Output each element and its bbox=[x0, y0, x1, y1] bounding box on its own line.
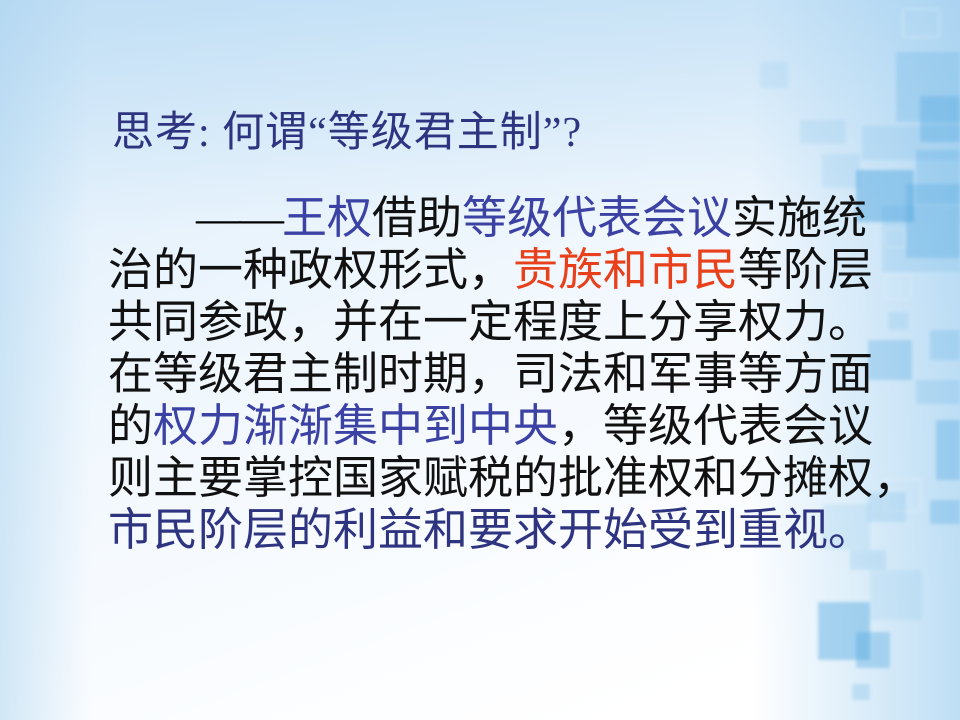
text-segment: 市民阶层的利益和要求开始受到重视。 bbox=[108, 505, 873, 555]
text-segment: 实施统 bbox=[732, 193, 867, 243]
text-segment: 的 bbox=[108, 401, 153, 451]
slide-content: 思考: 何谓“等级君主制”? ——王权借助等级代表会议实施统治的一种政权形式，贵… bbox=[0, 0, 960, 720]
text-segment: 贵族和市民 bbox=[513, 245, 738, 295]
text-segment: ，等级代表会议 bbox=[558, 401, 873, 451]
text-segment: 等阶层 bbox=[738, 245, 873, 295]
body-line: 治的一种政权形式，贵族和市民等阶层 bbox=[108, 244, 868, 296]
text-segment: 共同参政，并在一定程度上分享权力。 bbox=[108, 297, 873, 347]
body-line: ——王权借助等级代表会议实施统 bbox=[108, 192, 868, 244]
body-line: 在等级君主制时期，司法和军事等方面 bbox=[108, 348, 868, 400]
slide-title: 思考: 何谓“等级君主制”? bbox=[112, 108, 582, 158]
slide-body-text: ——王权借助等级代表会议实施统治的一种政权形式，贵族和市民等阶层共同参政，并在一… bbox=[108, 192, 868, 556]
body-line: 的权力渐渐集中到中央，等级代表会议 bbox=[108, 400, 868, 452]
text-segment: 等级代表会议 bbox=[462, 193, 732, 243]
text-segment: 治的一种政权形式， bbox=[108, 245, 513, 295]
text-segment: 借助 bbox=[372, 193, 462, 243]
text-segment: —— bbox=[196, 193, 282, 243]
body-line: 市民阶层的利益和要求开始受到重视。 bbox=[108, 504, 868, 556]
presentation-slide: 思考: 何谓“等级君主制”? ——王权借助等级代表会议实施统治的一种政权形式，贵… bbox=[0, 0, 960, 720]
text-segment: 王权 bbox=[282, 193, 372, 243]
body-line: 共同参政，并在一定程度上分享权力。 bbox=[108, 296, 868, 348]
body-line: 则主要掌控国家赋税的批准权和分摊权， bbox=[108, 452, 868, 504]
text-segment: 在等级君主制时期，司法和军事等方面 bbox=[108, 349, 873, 399]
text-segment: 权力渐渐集中到中央 bbox=[153, 401, 558, 451]
text-segment: 则主要掌控国家赋税的批准权和分摊权， bbox=[108, 453, 918, 503]
